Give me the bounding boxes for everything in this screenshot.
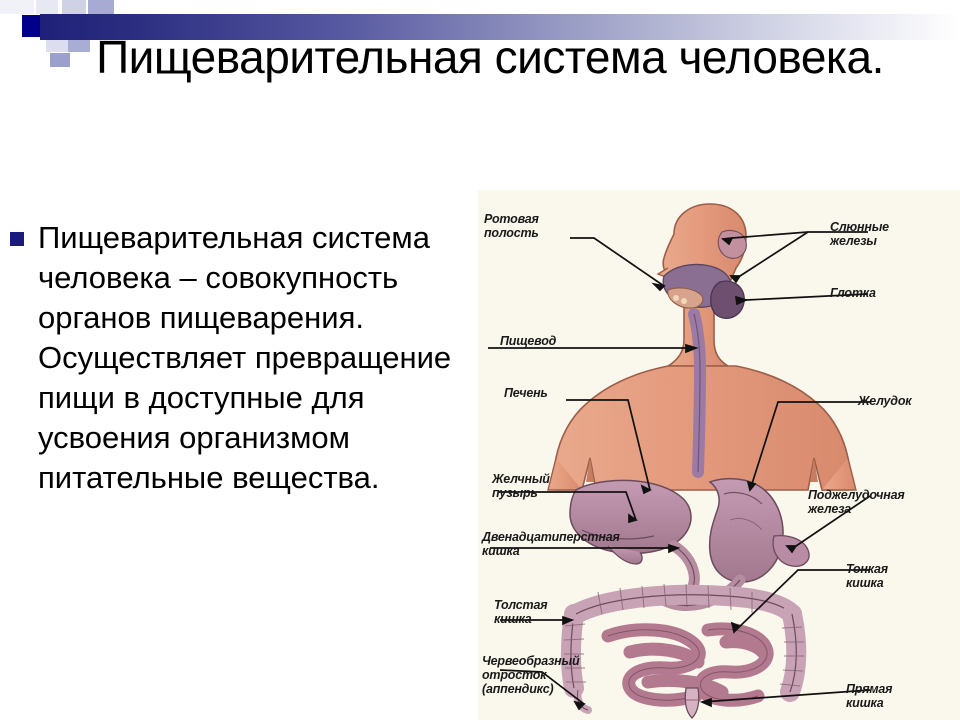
corner-block-soft-3 xyxy=(50,53,70,67)
corner-block-pale-1 xyxy=(0,0,34,14)
bullet-list-item: Пищеварительная система человека – совок… xyxy=(10,218,480,498)
diagram-label-rectum: Прямая кишка xyxy=(846,682,892,710)
diagram-label-esophagus: Пищевод xyxy=(500,334,556,348)
diagram-label-pancreas: Поджелудочная железа xyxy=(808,488,905,516)
corner-block-mid-2 xyxy=(88,0,114,14)
diagram-label-gallbladder: Желчный пузырь xyxy=(492,472,550,500)
diagram-label-large-intestine: Толстая кишка xyxy=(494,598,547,626)
diagram-label-liver: Печень xyxy=(504,386,548,400)
corner-block-mid-1 xyxy=(62,0,86,14)
diagram-label-salivary-glands: Слюнные железы xyxy=(830,220,889,248)
corner-block-soft-2 xyxy=(68,38,90,52)
corner-block-pale-2 xyxy=(36,0,58,14)
digestive-system-image: Ротовая полость Пищевод Печень Желчный п… xyxy=(478,190,960,720)
digestive-system-illustration xyxy=(478,190,960,720)
diagram-label-pharynx: Глотка xyxy=(830,286,876,300)
body-paragraph: Пищеварительная система человека – совок… xyxy=(38,218,480,498)
diagram-label-oral-cavity: Ротовая полость xyxy=(484,212,539,240)
diagram-label-small-intestine: Тонкая кишка xyxy=(846,562,888,590)
corner-block-soft-1 xyxy=(46,38,68,52)
diagram-label-duodenum: Двенадцатиперстная кишка xyxy=(482,530,620,558)
diagram-label-appendix: Червеобразный отросток (аппендикс) xyxy=(482,654,579,696)
diagram-label-stomach: Желудок xyxy=(858,394,911,408)
square-bullet-icon xyxy=(10,232,24,246)
page-title: Пищеварительная система человека. xyxy=(90,30,890,85)
